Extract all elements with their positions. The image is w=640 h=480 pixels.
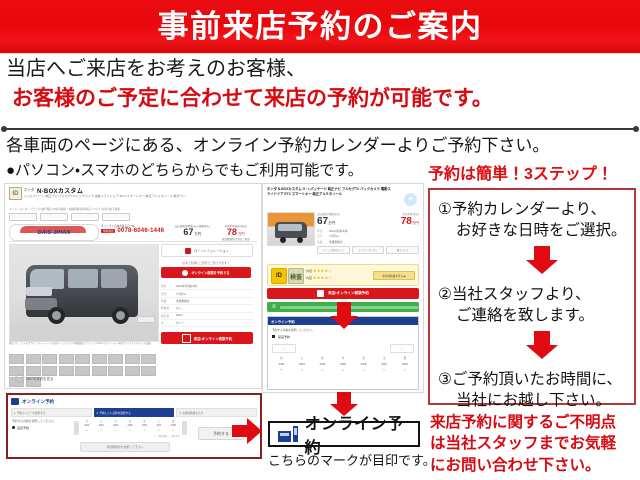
sp-body-price-number: 78 bbox=[401, 216, 412, 227]
availability-mark[interactable]: ○ bbox=[94, 428, 107, 433]
car-window bbox=[278, 224, 302, 231]
spec-key: 修復歴 bbox=[161, 306, 173, 310]
car-wheel-rear bbox=[297, 237, 303, 243]
arrow-head bbox=[247, 418, 262, 444]
id-badge-icon: ID bbox=[9, 187, 22, 200]
sp-spec-key: 車検 bbox=[317, 240, 325, 244]
sp-visit-reservation-label: 来店・オンライン商談予約 bbox=[328, 291, 369, 296]
sp-listing-screenshot: ホンダ N-BOXカスタム G・Lパッケージ 純正ナビ フルセグTV バックカメ… bbox=[262, 183, 424, 393]
calendar-date[interactable]: 4/08 bbox=[394, 362, 415, 366]
booking-calendar: 月 火 水 木 金 土 日 4/02 4/03 4/04 4/05 4/06 4… bbox=[80, 419, 180, 438]
heart-icon[interactable]: ♥ bbox=[404, 193, 417, 206]
availability-mark[interactable]: ○ bbox=[312, 367, 333, 373]
spec-row: 色グレー bbox=[161, 320, 253, 327]
building-right bbox=[293, 426, 298, 442]
photo-thumbnail[interactable] bbox=[108, 354, 123, 364]
booking-instruction: 予約する内容を選択してください。 bbox=[12, 419, 57, 423]
body-price-cell: 車両本体価格 (税込) 78万円 保証整備付は別途ご相談 bbox=[217, 224, 256, 241]
step-arrow-2 bbox=[526, 331, 558, 359]
car-window-front bbox=[30, 269, 64, 289]
calendar-date[interactable]: 4/07 bbox=[152, 424, 165, 427]
calendar-day-header: 木 bbox=[333, 356, 354, 360]
calendar-day-header: 土 bbox=[152, 419, 165, 423]
car-grille bbox=[26, 287, 52, 296]
footnote-line-1: 来店予約に関するご不明点 bbox=[430, 412, 640, 433]
view-360-label: 360°の写真を見る bbox=[26, 376, 53, 381]
arrow-stem bbox=[337, 392, 351, 404]
spec-value: なし bbox=[176, 306, 181, 310]
three-step-callout: 予約は簡単！3ステップ！ bbox=[428, 160, 613, 184]
photo-thumbnail[interactable] bbox=[92, 366, 107, 376]
loan-simulation-button[interactable]: ローンシミュレーション bbox=[161, 244, 253, 257]
calendar-day-header: 水 bbox=[109, 419, 122, 423]
visit-reservation-button[interactable]: 来店・オンライン商談予約 bbox=[161, 332, 253, 344]
lead-line-1: 当店へご来店をお考えのお客様、 bbox=[6, 58, 634, 81]
photo-thumbnail[interactable] bbox=[9, 354, 24, 364]
filter-chip[interactable] bbox=[40, 213, 68, 221]
sp-total-price-value: 67万円 bbox=[317, 216, 335, 227]
advertisement-page: 事前来店予約のご案内 当店へご来店をお考えのお客様、 お客様のご予定に合わせて来… bbox=[0, 0, 640, 480]
sp-total-price-unit: 万円 bbox=[328, 221, 335, 225]
price-box: 支払総額(消費税込み・諸費用込) 67万円 車両本体価格 (税込) 78万円 保… bbox=[173, 224, 255, 241]
sp-visit-reservation-button[interactable]: 来店・オンライン商談予約 bbox=[267, 288, 419, 299]
calendar-day-header: 月 bbox=[80, 419, 93, 423]
step-2-line-2: ご連絡を致します。 bbox=[456, 306, 594, 327]
photo-caption: 純正ナビ／フルセグTV／ブルートゥース対応・バックカメラ・両側電動スライドドア・… bbox=[9, 342, 155, 345]
photo-thumbnail[interactable] bbox=[75, 354, 90, 364]
time-slot-select[interactable]: 希望時間帯を選択して下さい bbox=[80, 442, 170, 452]
total-price-cell: 支払総額(消費税込み・諸費用込) 67万円 bbox=[173, 224, 212, 241]
availability-mark[interactable]: ○ bbox=[394, 367, 415, 373]
step-arrow-1 bbox=[526, 246, 558, 274]
photo-thumbnail[interactable] bbox=[26, 354, 41, 364]
photo-thumbnail[interactable] bbox=[75, 366, 90, 376]
sp-spec-value: 車検整備付 bbox=[329, 240, 342, 244]
availability-mark[interactable]: ○ bbox=[353, 367, 374, 373]
filter-chip[interactable] bbox=[71, 213, 99, 221]
calculator-icon bbox=[185, 248, 191, 254]
sp-body-price-value: 78万円 bbox=[401, 216, 419, 227]
step-2-line-1: ②当社スタッフより、 bbox=[438, 285, 590, 306]
sp-calendar-nav[interactable]: ‹ › bbox=[268, 339, 418, 353]
calendar-availability-marks: ー ○ ○ ○ ○ ○ ○ bbox=[80, 428, 180, 433]
photo-thumbnail[interactable] bbox=[59, 366, 74, 376]
sp-rating-row: 内装 ★★★★☆ bbox=[306, 275, 332, 282]
tel-number[interactable]: 0078-6046-1446 bbox=[117, 228, 164, 234]
arrow-stem bbox=[232, 425, 248, 437]
arrow-stem bbox=[534, 331, 550, 345]
booking-step-tab-2[interactable]: 2. 予約したい日時を選択する bbox=[94, 408, 175, 417]
sp-calendar-dates: 4/02 4/03 4/04 4/05 4/06 4/07 4/08 bbox=[268, 360, 418, 366]
spec-row: 排気量660cc bbox=[161, 313, 253, 320]
photo-thumbnail[interactable] bbox=[125, 366, 140, 376]
telephone-block: ダイレクト自動車販売店 TEL 無料通話0078-6046-1446 bbox=[101, 224, 179, 234]
calendar-date[interactable]: 4/05 bbox=[123, 424, 136, 427]
availability-mark[interactable]: ○ bbox=[138, 428, 151, 433]
photo-count-tag bbox=[137, 316, 155, 323]
spec-value: 7.8万km bbox=[176, 292, 186, 296]
spec-value: 660cc bbox=[176, 314, 183, 318]
calendar-day-header: 木 bbox=[123, 419, 136, 423]
sp-rating-stars: ★★★★☆ bbox=[313, 268, 332, 273]
listing-spec-text: シェルクリーン・純正ナビ・フルセグTV・バックカメラ・電動スライドドア・ETC・… bbox=[24, 194, 224, 198]
spec-row: 車検車検整備付 bbox=[161, 298, 253, 305]
car-window-rear2 bbox=[101, 269, 127, 288]
sp-tag[interactable]: 購入パック bbox=[386, 246, 419, 254]
phone-icon: ✆ bbox=[272, 304, 276, 310]
calendar-icon bbox=[182, 334, 191, 343]
sp-body-price-unit: 万円 bbox=[412, 221, 419, 225]
divider bbox=[4, 128, 636, 130]
online-negotiation-label: オンライン商談を予約する bbox=[191, 270, 229, 275]
availability-mark[interactable]: ー bbox=[80, 428, 93, 433]
sp-rating-label: 内装 bbox=[306, 276, 312, 280]
video-icon bbox=[182, 270, 188, 276]
spec-row: 修復歴なし bbox=[161, 305, 253, 312]
photo-thumbnail[interactable] bbox=[42, 354, 57, 364]
three-step-panel: ①予約カレンダーより、 お好きな日時をご選択。 ②当社スタッフより、 ご連絡を致… bbox=[428, 188, 636, 405]
sp-rating-report-button[interactable]: 車両評価書を見る ▶ bbox=[373, 271, 415, 280]
filter-chip[interactable] bbox=[102, 213, 130, 221]
sp-spec-key: 年式 bbox=[317, 229, 325, 233]
calendar-prev-button[interactable] bbox=[74, 421, 79, 435]
calendar-day-header: 日 bbox=[394, 356, 415, 360]
photo-thumbnail[interactable] bbox=[125, 354, 140, 364]
calendar-date[interactable]: 4/05 bbox=[333, 362, 354, 366]
calendar-date[interactable]: 4/02 bbox=[80, 424, 93, 427]
calendar-next-button[interactable] bbox=[182, 421, 187, 435]
spec-key: 走行 bbox=[161, 292, 173, 296]
total-price-value: 67万円 bbox=[173, 228, 212, 237]
building-left bbox=[278, 431, 291, 442]
booking-step-tabs[interactable]: 1. 予約メニューを選択する 2. 予約したい日時を選択する 3. お客様情報を… bbox=[11, 408, 257, 417]
calendar-icon bbox=[317, 290, 324, 297]
lead-line-4: ●パソコン・スマホのどちらからでもご利用可能です。 bbox=[6, 162, 363, 179]
sp-rating-rows: 外装 ★★★★☆ 内装 ★★★★☆ bbox=[306, 268, 332, 282]
spec-row: 年式2012年(平成24年) bbox=[161, 283, 253, 290]
availability-mark[interactable]: ○ bbox=[333, 367, 354, 373]
arrow-stem bbox=[534, 246, 550, 260]
body-price-value: 78万円 bbox=[217, 228, 256, 237]
pc-booking-screenshot: オンライン予約 1. 予約メニューを選択する 2. 予約したい日時を選択する 3… bbox=[6, 393, 262, 459]
calendar-legend: ○ : 予約可能 ー : 予約不可 bbox=[80, 434, 180, 438]
calendar-date[interactable]: 4/04 bbox=[312, 362, 333, 366]
calendar-day-header: 火 bbox=[94, 419, 107, 423]
inspection-badge-icon: 検査 bbox=[288, 268, 304, 284]
calendar-date[interactable]: 4/06 bbox=[138, 424, 151, 427]
visit-reservation-label: 来店・オンライン商談予約 bbox=[194, 336, 232, 341]
arrow-head bbox=[526, 260, 558, 274]
calendar-date[interactable]: 4/03 bbox=[292, 362, 313, 366]
sp-listing-title: ホンダ N-BOXカスタム G・Lパッケージ 純正ナビ フルセグTV バックカメ… bbox=[267, 187, 393, 197]
rotate-360-icon bbox=[15, 374, 24, 383]
calendar-day-headers: 月 火 水 木 金 土 日 bbox=[80, 419, 180, 423]
online-negotiation-button[interactable]: オンライン商談を予約する bbox=[161, 267, 251, 278]
body-price-unit: 万円 bbox=[238, 232, 245, 236]
total-price-number: 67 bbox=[183, 227, 193, 237]
photo-ground bbox=[10, 325, 158, 341]
calendar-date[interactable]: 4/07 bbox=[374, 362, 395, 366]
arrow-head bbox=[330, 316, 358, 329]
lead-line-2: お客様のご予定に合わせて来店の予約が可能です。 bbox=[12, 87, 640, 111]
spec-value: グレー bbox=[176, 321, 184, 325]
car-window-rear bbox=[68, 269, 98, 288]
sp-tag[interactable]: チェック保証パック bbox=[317, 246, 350, 254]
body-price-number: 78 bbox=[227, 227, 237, 237]
calendar-date[interactable]: 4/03 bbox=[94, 424, 107, 427]
sp-price-block: 支払総額(消費税込み) 車両本体 (税込) 67万円 78万円 bbox=[317, 212, 419, 227]
availability-mark[interactable]: ○ bbox=[152, 428, 165, 433]
calendar-date[interactable]: 4/06 bbox=[353, 362, 374, 366]
availability-mark[interactable]: ○ bbox=[167, 428, 180, 433]
building-icon bbox=[278, 426, 298, 442]
total-price-unit: 万円 bbox=[194, 232, 201, 236]
photo-thumbnail[interactable] bbox=[59, 354, 74, 364]
calendar-date[interactable]: 4/02 bbox=[271, 362, 292, 366]
listing-title-row: ID ホンダ N-BOXカスタム シェルクリーン・純正ナビ・フルセグTV・バック… bbox=[9, 187, 257, 201]
arrow-stem bbox=[337, 302, 351, 316]
pc-listing-screenshot: ID ホンダ N-BOXカスタム シェルクリーン・純正ナビ・フルセグTV・バック… bbox=[4, 183, 262, 389]
loan-simulation-label: ローンシミュレーション bbox=[194, 248, 229, 253]
photo-thumbnail[interactable] bbox=[141, 366, 156, 376]
down-arrow-to-calendar bbox=[330, 302, 358, 329]
sp-calendar-option-visit[interactable]: 来店予約 bbox=[268, 332, 418, 339]
spec-key: 年式 bbox=[161, 284, 173, 288]
sp-vehicle-thumbnail[interactable] bbox=[267, 212, 315, 246]
vehicle-photo[interactable] bbox=[9, 244, 159, 342]
availability-mark[interactable]: ○ bbox=[374, 367, 395, 373]
availability-mark[interactable]: ○ bbox=[292, 367, 313, 373]
spec-value: 車検整備付 bbox=[176, 299, 189, 303]
sp-spec-key: 走行 bbox=[317, 234, 325, 238]
spec-value: 2012年(平成24年) bbox=[176, 284, 198, 288]
sp-summary-row: 支払総額(消費税込み) 車両本体 (税込) 67万円 78万円 年式2012(平… bbox=[267, 212, 419, 260]
listing-right-pane: ローンシミュレーション お車で気軽にご自宅でご覧できます！ オンライン商談を予約… bbox=[161, 244, 257, 344]
view-360-link[interactable]: 360°の写真を見る bbox=[15, 374, 53, 383]
step-1-line-1: ①予約カレンダーより、 bbox=[438, 200, 606, 221]
sp-rating-stars: ★★★★☆ bbox=[313, 275, 332, 280]
sp-total-price-number: 67 bbox=[317, 216, 328, 227]
page-header-banner: 事前来店予約のご案内 bbox=[0, 0, 640, 53]
arrow-head bbox=[526, 345, 558, 359]
spec-key: 排気量 bbox=[161, 314, 173, 318]
sp-tag-row[interactable]: チェック保証パック クーポン・クーポン 購入パック bbox=[317, 246, 419, 254]
sp-rating-row: 外装 ★★★★☆ bbox=[306, 268, 332, 275]
body-price-note: 保証整備付は別途ご相談 bbox=[217, 237, 256, 241]
spec-row: 走行7.8万km bbox=[161, 290, 253, 297]
dealer-logo: DAIS-JIHAN bbox=[9, 224, 99, 241]
sp-tag[interactable]: クーポン・クーポン bbox=[352, 246, 385, 254]
spec-table: 年式2012年(平成24年) 走行7.8万km 車検車検整備付 修復歴なし 排気… bbox=[161, 283, 253, 327]
calendar-day-header: 水 bbox=[312, 356, 333, 360]
sp-spec-value: 7.8万km bbox=[329, 234, 339, 238]
sp-spec-value: 2012(平成24)年 bbox=[329, 229, 348, 233]
photo-thumbnail[interactable] bbox=[108, 366, 123, 376]
booking-option-visit[interactable]: 来店予約 bbox=[12, 426, 29, 430]
car-wheel-rear bbox=[112, 307, 129, 324]
car-wheel-front bbox=[280, 237, 286, 243]
calendar-day-header: 土 bbox=[374, 356, 395, 360]
right-arrow-to-mark bbox=[232, 418, 262, 444]
sp-calendar-availability-marks: ー ○ ○ ○ ○ ○ ○ bbox=[268, 366, 418, 373]
building-icon bbox=[11, 398, 19, 405]
photo-thumbnail[interactable] bbox=[92, 354, 107, 364]
calendar-day-header: 日 bbox=[167, 419, 180, 423]
mark-note: こちらのマークが目印です。 bbox=[268, 450, 436, 469]
listing-maker: ホンダ bbox=[24, 187, 34, 192]
filter-chip-row[interactable] bbox=[9, 213, 130, 221]
spec-key: 色 bbox=[161, 321, 173, 325]
spec-key: 車検 bbox=[161, 299, 173, 303]
online-reservation-mark: オンライン予約 bbox=[268, 421, 420, 447]
dealer-name: DAIS-JIHAN bbox=[38, 230, 71, 236]
id-badge-icon: ID bbox=[271, 268, 287, 284]
calendar-day-header: 月 bbox=[271, 356, 292, 360]
availability-mark[interactable]: ○ bbox=[109, 428, 122, 433]
dealer-bar: DAIS-JIHAN ダイレクト自動車販売店 TEL 無料通話0078-6046… bbox=[9, 223, 257, 242]
calendar-day-header: 金 bbox=[138, 419, 151, 423]
booking-step-tab-1[interactable]: 1. 予約メニューを選択する bbox=[11, 408, 92, 417]
footnote-line-3: にお問い合わせ下さい。 bbox=[430, 455, 640, 476]
booking-panel-title: オンライン予約 bbox=[22, 399, 54, 405]
calendar-date[interactable]: 4/04 bbox=[109, 424, 122, 427]
step-3-line-2: 当社にお越し下さい。 bbox=[456, 391, 611, 412]
online-note: お車で気軽にご自宅でご覧できます！ bbox=[161, 261, 251, 265]
free-call-flag: 無料通話 bbox=[101, 229, 115, 233]
sp-calendar-day-headers: 月 火 水 木 金 土 日 bbox=[268, 353, 418, 360]
booking-step-tab-3[interactable]: 3. お客様情報を入力 bbox=[176, 408, 257, 417]
calendar-next-button[interactable]: › bbox=[390, 344, 414, 353]
availability-mark[interactable]: ○ bbox=[123, 428, 136, 433]
step-1-line-2: お好きな日時をご選択。 bbox=[456, 221, 627, 242]
lead-line-3: 各車両のページにある、オンライン予約カレンダーよりご予約下さい。 bbox=[6, 136, 638, 156]
sp-rating-panel: ID 検査 外装 ★★★★☆ 内装 ★★★★☆ 車両評価書を見る ▶ bbox=[267, 264, 419, 286]
step-3-line-1: ③ご予約頂いたお時間に、 bbox=[438, 370, 622, 391]
filter-chip[interactable] bbox=[9, 213, 37, 221]
footnote-line-2: は当社スタッフまでお気軽 bbox=[430, 433, 640, 454]
availability-mark[interactable]: ー bbox=[271, 367, 292, 373]
car-wheel-front bbox=[48, 307, 65, 324]
calendar-day-header: 火 bbox=[292, 356, 313, 360]
calendar-day-header: 金 bbox=[353, 356, 374, 360]
booking-panel-header: オンライン予約 bbox=[11, 398, 54, 405]
calendar-date[interactable]: 4/08 bbox=[167, 424, 180, 427]
footnote-text: 来店予約に関するご不明点 は当社スタッフまでお気軽 にお問い合わせ下さい。 bbox=[430, 412, 640, 476]
page-title: 事前来店予約のご案内 bbox=[158, 11, 483, 42]
breadcrumb: ホーム > ホンダ > ブラック・並行輸入・中古車検索 > 価格相場・新車購入に… bbox=[9, 207, 239, 211]
calendar-prev-button[interactable]: ‹ bbox=[272, 344, 296, 353]
photo-thumbnail[interactable] bbox=[141, 354, 156, 364]
sp-rating-label: 外装 bbox=[306, 269, 312, 273]
calendar-dates: 4/02 4/03 4/04 4/05 4/06 4/07 4/08 bbox=[80, 424, 180, 427]
